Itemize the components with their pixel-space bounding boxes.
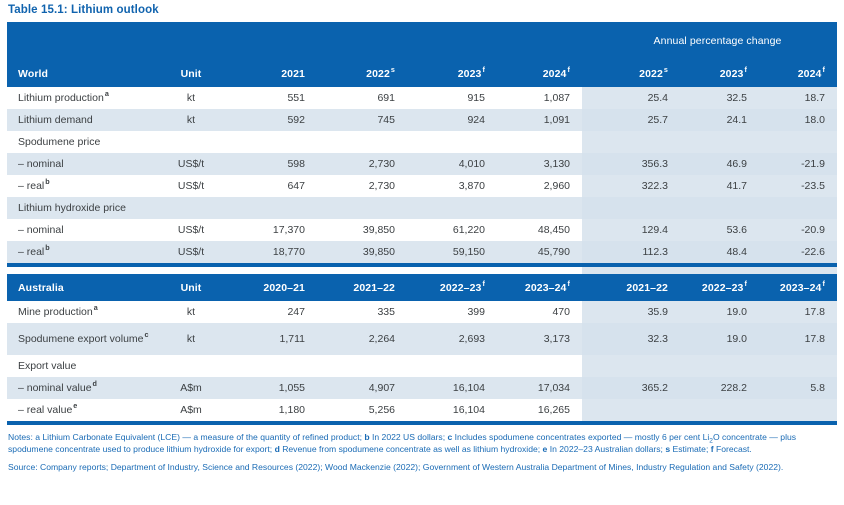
unit-header-australia: Unit [155, 274, 227, 301]
row-pct-1: 41.7 [680, 175, 759, 197]
table-row: Export value [7, 355, 837, 377]
value-year-header-australia-3: 2023–24f [497, 274, 582, 301]
row-value-0 [227, 355, 317, 377]
row-pct-1: 48.4 [680, 241, 759, 263]
row-value-0 [227, 197, 317, 219]
row-value-3: 16,265 [497, 399, 582, 421]
row-pct-0 [598, 399, 680, 421]
row-pct-2: 18.0 [759, 109, 837, 131]
row-value-0: 247 [227, 301, 317, 323]
notes-line: Notes: a Lithium Carbonate Equivalent (L… [8, 432, 840, 455]
value-year-header-australia-0: 2020–21 [227, 274, 317, 301]
section-spacer-right [598, 267, 837, 274]
row-unit: kt [155, 109, 227, 131]
row-label: Spodumene price [7, 131, 155, 153]
table-row: – realbUS$/t18,77039,85059,15045,790112.… [7, 241, 837, 263]
row-unit [155, 131, 227, 153]
row-gap [582, 323, 598, 355]
row-unit: US$/t [155, 219, 227, 241]
row-gap [582, 399, 598, 421]
row-label: Lithium hydroxide price [7, 197, 155, 219]
annual-percentage-change-spanner: Annual percentage change [598, 22, 837, 60]
row-gap [582, 241, 598, 263]
row-value-1: 5,256 [317, 399, 407, 421]
section-rule-left [7, 421, 582, 425]
row-value-1 [317, 197, 407, 219]
row-pct-0: 356.3 [598, 153, 680, 175]
footnote-marker: f [567, 279, 571, 288]
unit-header-world: Unit [155, 60, 227, 87]
row-pct-2 [759, 399, 837, 421]
value-year-header-world-2: 2023f [407, 60, 497, 87]
row-label: – realb [7, 175, 155, 197]
row-value-3: 17,034 [497, 377, 582, 399]
row-label: – nominal valued [7, 377, 155, 399]
footnote-marker: a [104, 89, 109, 98]
row-pct-2: -22.6 [759, 241, 837, 263]
pct-year-header-world-2: 2024f [759, 60, 837, 87]
header-gap-australia [582, 274, 598, 301]
section-spacer-gap [582, 267, 598, 274]
footnote-key: b [364, 432, 369, 442]
row-pct-2: -21.9 [759, 153, 837, 175]
row-pct-2: 18.7 [759, 87, 837, 109]
page-title: Table 15.1: Lithium outlook [7, 0, 837, 22]
row-gap [582, 377, 598, 399]
row-value-0: 18,770 [227, 241, 317, 263]
table-row: Lithium demandkt5927459241,09125.724.118… [7, 109, 837, 131]
row-value-3: 2,960 [497, 175, 582, 197]
section-rule-australia [7, 421, 837, 425]
row-value-3: 48,450 [497, 219, 582, 241]
row-pct-1 [680, 399, 759, 421]
row-pct-0: 25.7 [598, 109, 680, 131]
row-value-1: 2,264 [317, 323, 407, 355]
row-pct-0 [598, 131, 680, 153]
row-value-1 [317, 131, 407, 153]
row-value-2 [407, 131, 497, 153]
value-year-header-australia-2: 2022–23f [407, 274, 497, 301]
row-value-2 [407, 197, 497, 219]
footnote-marker: f [744, 279, 748, 288]
source-line: Source: Company reports; Department of I… [8, 462, 840, 474]
footnote-marker: c [144, 330, 149, 339]
value-year-header-world-1: 2022s [317, 60, 407, 87]
section-spacer [7, 267, 837, 274]
row-unit: kt [155, 323, 227, 355]
row-pct-0: 365.2 [598, 377, 680, 399]
row-value-2: 399 [407, 301, 497, 323]
table-notes: Notes: a Lithium Carbonate Equivalent (L… [7, 432, 840, 474]
footnote-marker: s [663, 65, 668, 74]
row-label: – nominal [7, 219, 155, 241]
row-value-1: 39,850 [317, 241, 407, 263]
footnote-key: d [275, 444, 280, 454]
row-pct-1 [680, 197, 759, 219]
row-pct-2: -20.9 [759, 219, 837, 241]
row-value-0: 598 [227, 153, 317, 175]
row-value-3: 3,173 [497, 323, 582, 355]
header-band-gap [582, 22, 598, 60]
value-year-header-australia-1: 2021–22 [317, 274, 407, 301]
section-spacer-left [7, 267, 582, 274]
row-value-0: 551 [227, 87, 317, 109]
row-value-0 [227, 131, 317, 153]
row-unit [155, 197, 227, 219]
table-row: – real valueeA$m1,1805,25616,10416,265 [7, 399, 837, 421]
row-value-2: 4,010 [407, 153, 497, 175]
row-pct-1: 24.1 [680, 109, 759, 131]
row-unit: kt [155, 87, 227, 109]
row-unit: US$/t [155, 175, 227, 197]
footnote-marker: s [390, 65, 395, 74]
row-pct-1: 32.5 [680, 87, 759, 109]
column-header-row-australia: AustraliaUnit2020–212021–222022–23f2023–… [7, 274, 837, 301]
table-row: Spodumene export volumeckt1,7112,2642,69… [7, 323, 837, 355]
row-gap [582, 355, 598, 377]
row-pct-1 [680, 355, 759, 377]
row-pct-2: 17.8 [759, 301, 837, 323]
pct-year-header-australia-1: 2022–23f [680, 274, 759, 301]
column-header-row-world: WorldUnit20212022s2023f2024f2022s2023f20… [7, 60, 837, 87]
row-unit: US$/t [155, 153, 227, 175]
row-value-2: 2,693 [407, 323, 497, 355]
row-value-3 [497, 355, 582, 377]
row-gap [582, 153, 598, 175]
row-label: Lithium productiona [7, 87, 155, 109]
lithium-outlook-table-wrapper: Annual percentage changeWorldUnit2021202… [7, 22, 837, 425]
row-gap [582, 87, 598, 109]
row-unit: kt [155, 301, 227, 323]
row-gap [582, 301, 598, 323]
row-value-0: 17,370 [227, 219, 317, 241]
row-value-2: 16,104 [407, 377, 497, 399]
footnote-marker: b [44, 177, 49, 186]
table-row: – nominalUS$/t5982,7304,0103,130356.346.… [7, 153, 837, 175]
footnote-key: s [665, 444, 670, 454]
row-gap [582, 219, 598, 241]
value-year-header-world-3: 2024f [497, 60, 582, 87]
row-pct-0: 112.3 [598, 241, 680, 263]
table-body: Annual percentage changeWorldUnit2021202… [7, 22, 837, 425]
section-label-australia: Australia [7, 274, 155, 301]
row-value-1: 691 [317, 87, 407, 109]
row-value-3 [497, 197, 582, 219]
section-rule-gap [582, 421, 598, 425]
row-value-3 [497, 131, 582, 153]
row-pct-0: 32.3 [598, 323, 680, 355]
row-label: Spodumene export volumec [7, 323, 155, 355]
row-value-2: 16,104 [407, 399, 497, 421]
row-pct-1: 228.2 [680, 377, 759, 399]
row-label: Mine productiona [7, 301, 155, 323]
pct-year-header-world-1: 2023f [680, 60, 759, 87]
pct-year-header-australia-0: 2021–22 [598, 274, 680, 301]
row-value-2: 59,150 [407, 241, 497, 263]
row-label: – nominal [7, 153, 155, 175]
footnote-marker: e [72, 401, 77, 410]
footnote-key: f [711, 444, 714, 454]
footnote-marker: b [44, 243, 49, 252]
table-row: Mine productionakt24733539947035.919.017… [7, 301, 837, 323]
row-pct-2 [759, 131, 837, 153]
row-value-1: 335 [317, 301, 407, 323]
footnote-key: e [543, 444, 548, 454]
row-label: – real valuee [7, 399, 155, 421]
footnote-marker: f [482, 65, 486, 74]
row-pct-0: 35.9 [598, 301, 680, 323]
row-value-0: 1,180 [227, 399, 317, 421]
row-pct-1: 19.0 [680, 301, 759, 323]
row-pct-2 [759, 355, 837, 377]
row-value-3: 45,790 [497, 241, 582, 263]
row-value-0: 1,055 [227, 377, 317, 399]
row-pct-0: 129.4 [598, 219, 680, 241]
row-value-0: 592 [227, 109, 317, 131]
lithium-outlook-table: Annual percentage changeWorldUnit2021202… [7, 22, 837, 425]
row-value-3: 1,087 [497, 87, 582, 109]
table-page: Table 15.1: Lithium outlook Annual perce… [0, 0, 844, 505]
footnote-key: c [447, 432, 452, 442]
section-label-world: World [7, 60, 155, 87]
row-value-2: 915 [407, 87, 497, 109]
row-value-1: 39,850 [317, 219, 407, 241]
row-value-3: 470 [497, 301, 582, 323]
row-gap [582, 109, 598, 131]
row-value-2: 924 [407, 109, 497, 131]
table-row: – nominal valuedA$m1,0554,90716,10417,03… [7, 377, 837, 399]
row-value-2 [407, 355, 497, 377]
row-value-3: 1,091 [497, 109, 582, 131]
row-pct-2: -23.5 [759, 175, 837, 197]
row-value-1: 4,907 [317, 377, 407, 399]
row-pct-2: 5.8 [759, 377, 837, 399]
pct-year-header-australia-2: 2023–24f [759, 274, 837, 301]
row-value-1: 745 [317, 109, 407, 131]
header-gap-world [582, 60, 598, 87]
footnote-marker: f [822, 65, 826, 74]
value-year-header-world-0: 2021 [227, 60, 317, 87]
footnote-marker: f [744, 65, 748, 74]
row-label: – realb [7, 241, 155, 263]
row-pct-2: 17.8 [759, 323, 837, 355]
row-unit [155, 355, 227, 377]
row-pct-0: 25.4 [598, 87, 680, 109]
table-row: Lithium hydroxide price [7, 197, 837, 219]
row-label: Export value [7, 355, 155, 377]
row-pct-1 [680, 131, 759, 153]
footnote-marker: a [93, 303, 98, 312]
row-gap [582, 197, 598, 219]
row-pct-0 [598, 197, 680, 219]
row-value-1: 2,730 [317, 153, 407, 175]
row-value-0: 1,711 [227, 323, 317, 355]
table-row: – realbUS$/t6472,7303,8702,960322.341.7-… [7, 175, 837, 197]
section-rule-right [598, 421, 837, 425]
row-label: Lithium demand [7, 109, 155, 131]
row-pct-0: 322.3 [598, 175, 680, 197]
row-pct-1: 46.9 [680, 153, 759, 175]
row-value-0: 647 [227, 175, 317, 197]
row-value-1 [317, 355, 407, 377]
footnote-marker: f [567, 65, 571, 74]
row-value-1: 2,730 [317, 175, 407, 197]
row-pct-1: 19.0 [680, 323, 759, 355]
row-gap [582, 175, 598, 197]
footnote-marker: d [92, 379, 97, 388]
footnote-marker: f [482, 279, 486, 288]
row-unit: A$m [155, 399, 227, 421]
table-row: Spodumene price [7, 131, 837, 153]
table-row: – nominalUS$/t17,37039,85061,22048,45012… [7, 219, 837, 241]
row-unit: A$m [155, 377, 227, 399]
header-band-blank [7, 22, 582, 60]
row-pct-2 [759, 197, 837, 219]
table-row: Lithium productionakt5516919151,08725.43… [7, 87, 837, 109]
row-value-2: 3,870 [407, 175, 497, 197]
row-pct-1: 53.6 [680, 219, 759, 241]
row-gap [582, 131, 598, 153]
row-value-2: 61,220 [407, 219, 497, 241]
footnote-marker: f [822, 279, 826, 288]
pct-year-header-world-0: 2022s [598, 60, 680, 87]
row-pct-0 [598, 355, 680, 377]
header-band-world: Annual percentage change [7, 22, 837, 60]
row-unit: US$/t [155, 241, 227, 263]
row-value-3: 3,130 [497, 153, 582, 175]
